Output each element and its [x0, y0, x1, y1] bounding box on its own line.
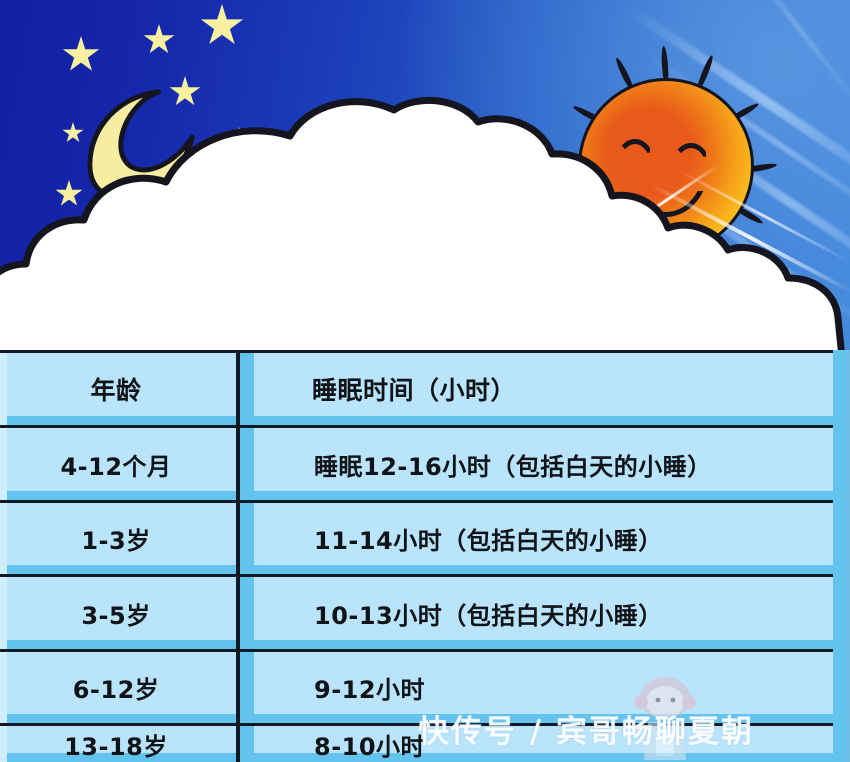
- table-row: 4-12个月 睡眠12-16小时（包括白天的小睡）: [0, 425, 850, 500]
- cell-hours: 9-12小时: [254, 652, 850, 723]
- header-cell-hours: 睡眠时间（小时）: [254, 353, 850, 425]
- sleep-chart-infographic: 年龄 睡眠时间（小时） 4-12个月 睡眠12-16小时（包括白天的小睡） 1-…: [0, 0, 850, 762]
- header-cell-age: 年龄: [0, 353, 232, 425]
- hours-value: 8-10小时: [314, 727, 425, 762]
- column-divider: [232, 353, 254, 425]
- table-row: 3-5岁 10-13小时（包括白天的小睡）: [0, 574, 850, 649]
- table-row: 1-3岁 11-14小时（包括白天的小睡）: [0, 500, 850, 574]
- table-row: 13-18岁 8-10小时: [0, 723, 850, 762]
- cell-age: 1-3岁: [0, 503, 232, 574]
- age-value: 13-18岁: [64, 727, 168, 762]
- hours-value: 11-14小时（包括白天的小睡）: [314, 521, 663, 556]
- column-divider: [232, 577, 254, 649]
- table-header-row: 年龄 睡眠时间（小时）: [0, 350, 850, 425]
- age-value: 6-12岁: [73, 670, 160, 705]
- column-divider: [232, 428, 254, 500]
- sky-illustration: [0, 0, 850, 352]
- cell-hours: 11-14小时（包括白天的小睡）: [254, 503, 850, 574]
- cell-age: 6-12岁: [0, 652, 232, 723]
- column-divider: [232, 726, 254, 762]
- column-divider: [232, 503, 254, 574]
- hours-value: 10-13小时（包括白天的小睡）: [314, 596, 663, 631]
- table-row: 6-12岁 9-12小时: [0, 649, 850, 723]
- header-hours-label: 睡眠时间（小时）: [312, 371, 516, 407]
- age-value: 4-12个月: [60, 447, 171, 482]
- hours-value: 睡眠12-16小时（包括白天的小睡）: [314, 447, 712, 482]
- age-value: 1-3岁: [81, 521, 150, 556]
- cell-hours: 8-10小时: [254, 726, 850, 762]
- cell-age: 4-12个月: [0, 428, 232, 500]
- age-value: 3-5岁: [81, 596, 150, 631]
- cell-age: 3-5岁: [0, 577, 232, 649]
- cell-age: 13-18岁: [0, 726, 232, 762]
- hours-value: 9-12小时: [314, 670, 425, 705]
- sleep-duration-table: 年龄 睡眠时间（小时） 4-12个月 睡眠12-16小时（包括白天的小睡） 1-…: [0, 350, 850, 762]
- header-age-label: 年龄: [90, 371, 141, 407]
- cell-hours: 睡眠12-16小时（包括白天的小睡）: [254, 428, 850, 500]
- column-divider: [232, 652, 254, 723]
- white-cloud: [0, 96, 850, 352]
- cell-hours: 10-13小时（包括白天的小睡）: [254, 577, 850, 649]
